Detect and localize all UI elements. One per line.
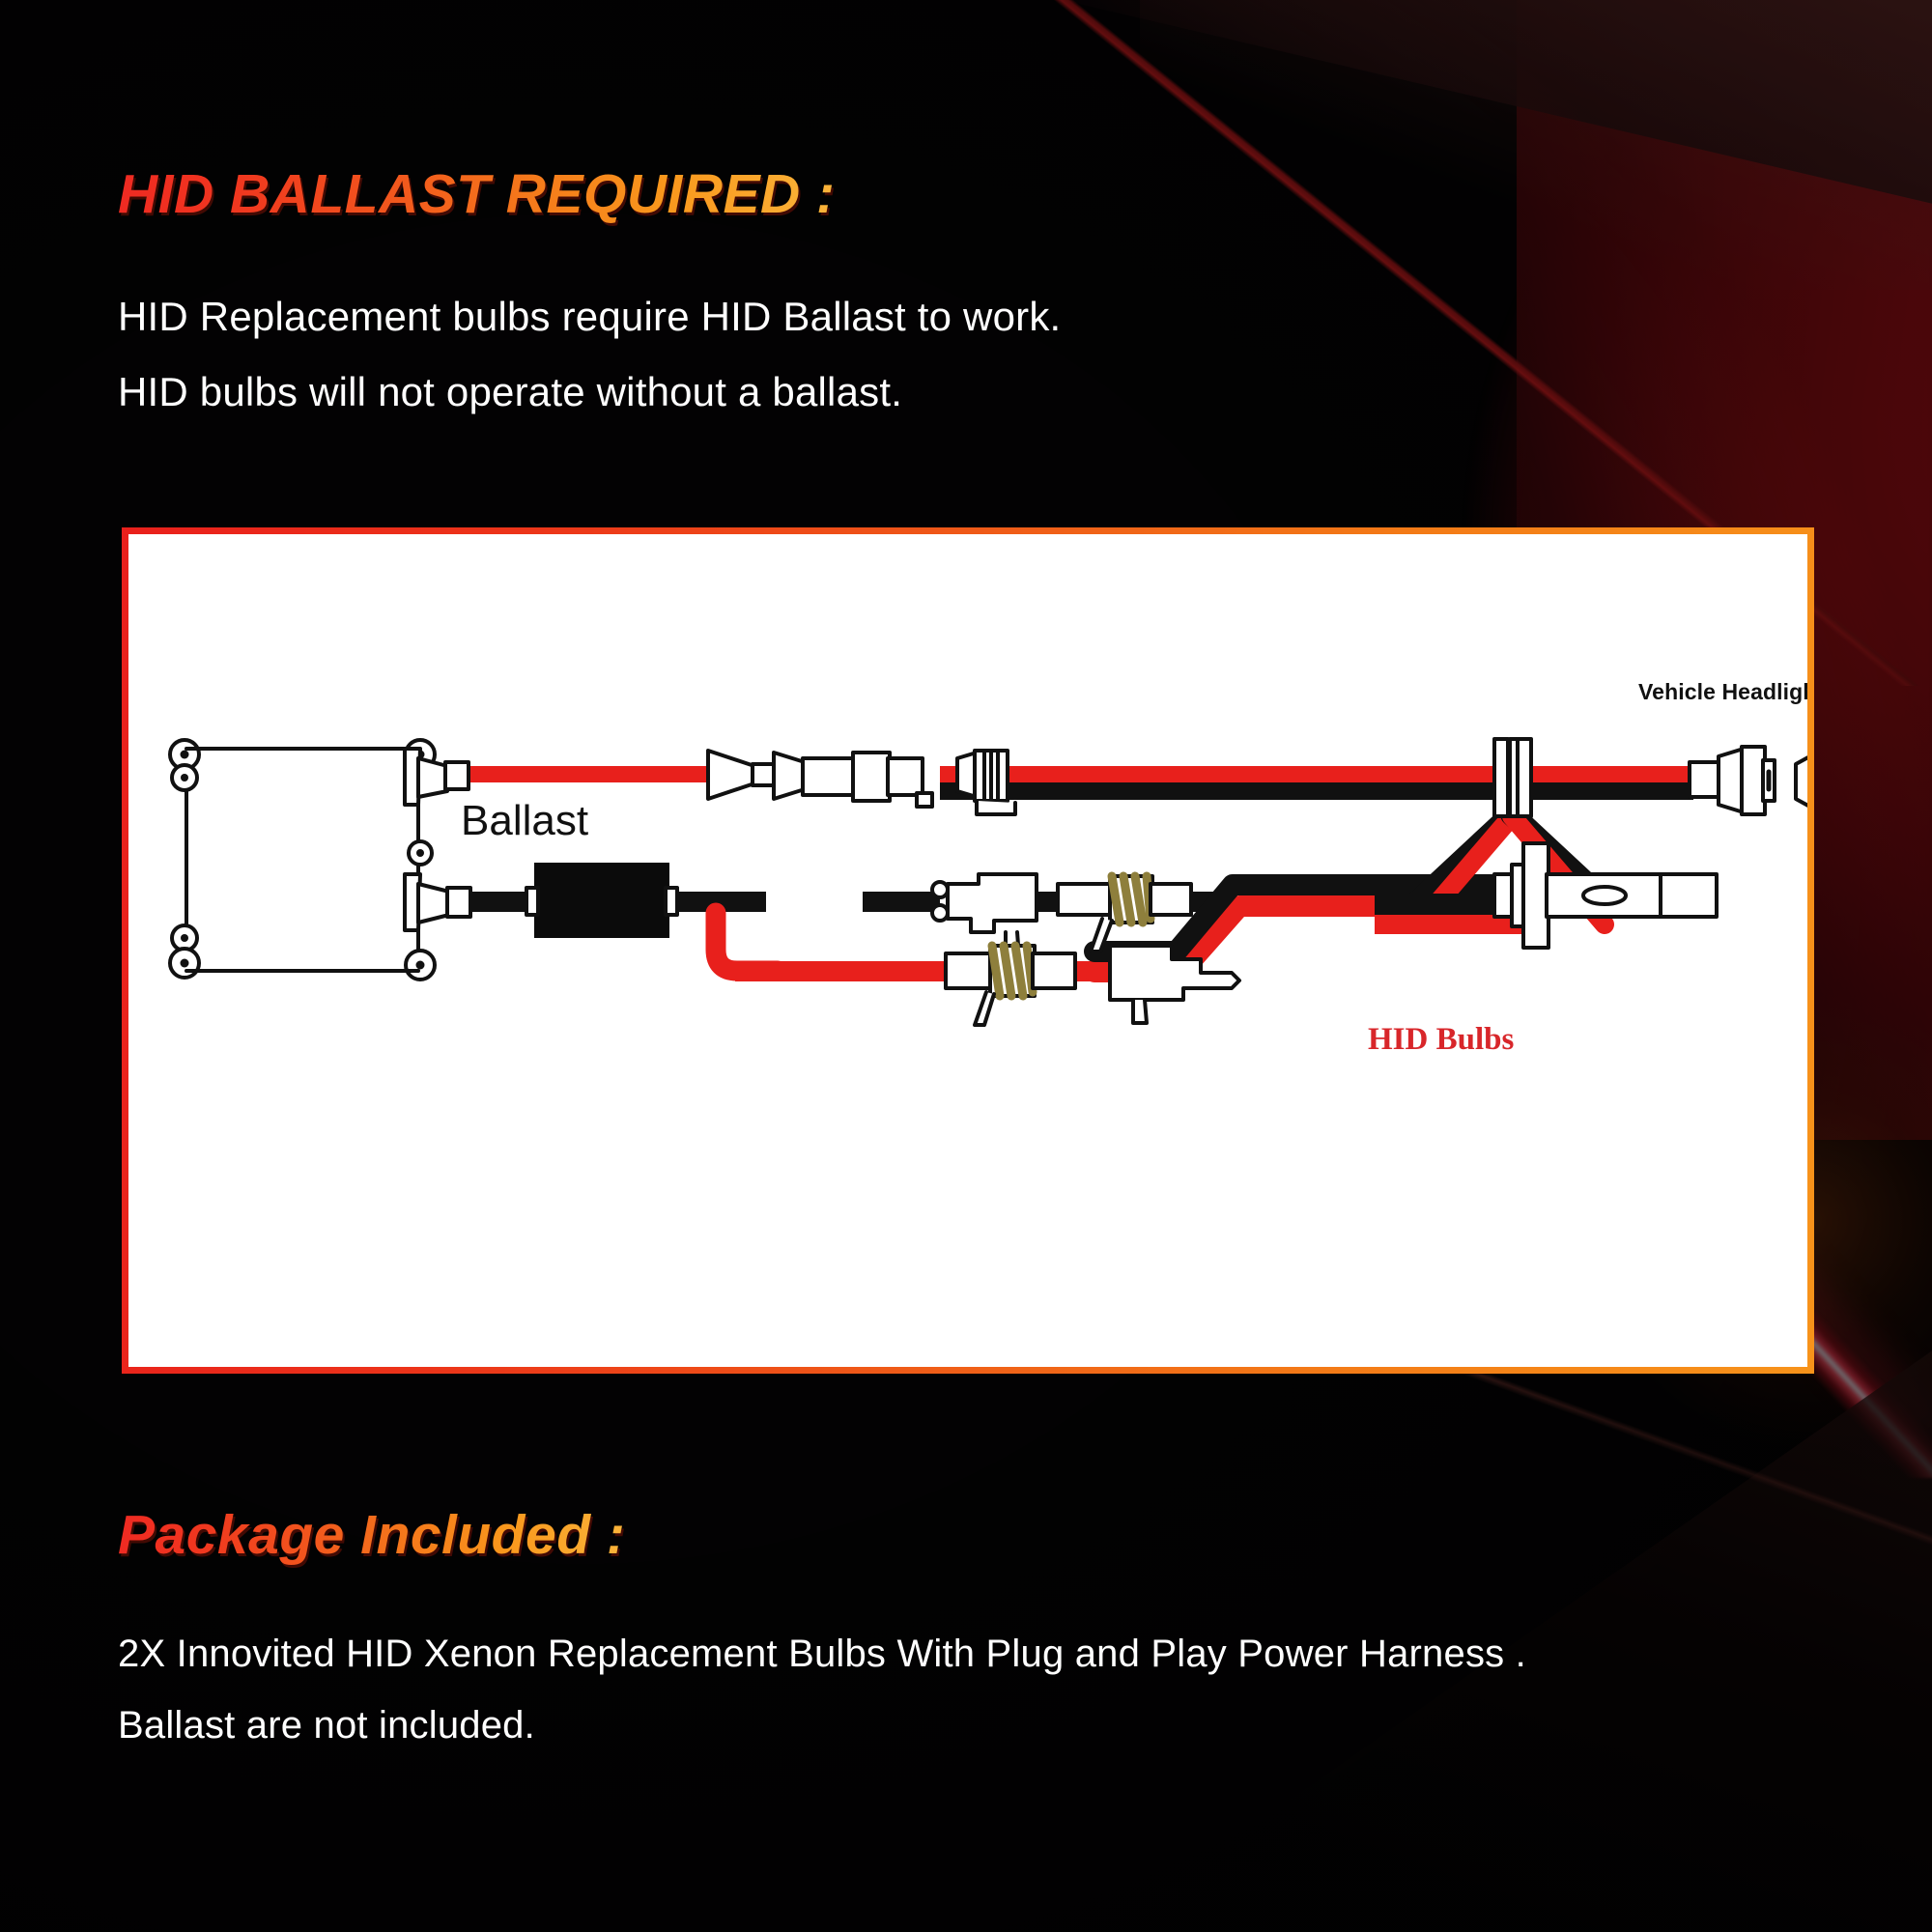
infographic-canvas: HID BALLAST REQUIRED : HID Replacement b… [0,0,1932,1932]
red-wire-lower-run [735,961,957,981]
spade-terminal-male-lower [1110,946,1239,1023]
wiring-diagram-illustration [128,534,1807,1367]
package-included-heading: Package Included : [118,1503,625,1567]
ballast-output-boot-bottom [405,874,470,930]
headlight-socket-plug [1690,747,1775,814]
spade-terminal-female-lower [946,946,1075,1025]
ballast-label: Ballast [461,797,588,845]
ballast-output-boot-top [405,749,469,805]
background-top-sheen [1140,0,1932,290]
ballast-box [170,740,435,980]
ballast-required-line-1: HID Replacement bulbs require HID Ballas… [118,294,1061,340]
wiring-diagram-panel-border: Ballast Vehicle Headlight Socket HID Bul… [122,527,1814,1374]
female-connector-ribbed [957,751,1015,814]
red-wire-to-socket [1520,766,1693,782]
ballast-required-heading: HID BALLAST REQUIRED : [118,162,835,226]
hid-bulbs-label: HID Bulbs [1368,1022,1514,1058]
spade-terminal-female-upper [1058,876,1191,952]
inline-barrel-connector [774,753,932,807]
package-included-line-1: 2X Innovited HID Xenon Replacement Bulbs… [118,1633,1526,1676]
wire-splitter [1494,739,1531,816]
male-connector-cone [708,751,776,799]
inline-igniter-box [526,863,677,938]
black-wire-to-socket [1520,782,1693,800]
black-wire-top-run [1181,782,1500,800]
ballast-required-line-2: HID bulbs will not operate without a bal… [118,369,902,415]
black-wire-spade-a [863,892,940,912]
spring-coil-upper [1110,876,1152,923]
headlight-socket-receptacle [1796,743,1807,820]
package-included-line-2: Ballast are not included. [118,1704,535,1747]
spring-coil-lower [990,946,1035,996]
vehicle-headlight-socket-label: Vehicle Headlight Socket [1638,679,1807,705]
red-wire-top-run [1181,766,1500,782]
wiring-diagram-panel: Ballast Vehicle Headlight Socket HID Bul… [128,534,1807,1367]
background-bottom-line [956,1294,1932,1932]
